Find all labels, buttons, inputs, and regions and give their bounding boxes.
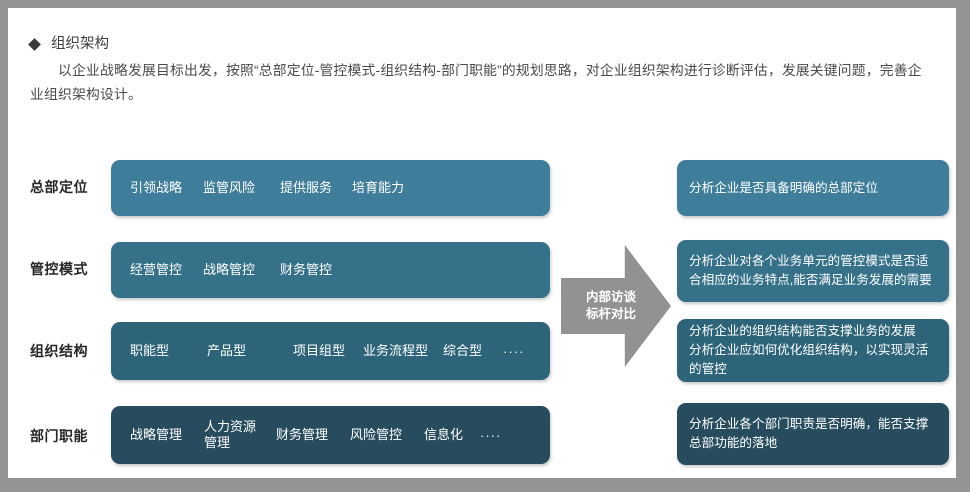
section-description: 以企业战略发展目标出发，按照“总部定位-管控模式-组织结构-部门职能”的规划思路… xyxy=(30,59,930,107)
chip-item: 战略管理 xyxy=(130,427,204,443)
chip-item: 经营管控 xyxy=(130,262,203,278)
chip-item: 综合型 xyxy=(443,343,503,359)
chip-ellipsis: ···· xyxy=(480,428,501,443)
arrow-line-2: 标杆对比 xyxy=(586,306,636,323)
row-label-dept-function: 部门职能 xyxy=(30,426,106,446)
chip-item: 战略管控 xyxy=(203,262,280,278)
section-heading: 组织架构 xyxy=(30,34,935,54)
row-label-control-mode: 管控模式 xyxy=(30,259,106,279)
chip-item: 财务管控 xyxy=(280,262,332,278)
row-label-hq-positioning: 总部定位 xyxy=(30,177,106,197)
analysis-box-hq-positioning[interactable]: 分析企业是否具备明确的总部定位 xyxy=(677,160,949,216)
process-arrow-label: 内部访谈 标杆对比 xyxy=(561,245,671,367)
chip-ellipsis: ···· xyxy=(503,344,524,359)
chip-item: 培育能力 xyxy=(352,180,404,196)
chip-item: 业务流程型 xyxy=(363,343,443,359)
chip-item: 产品型 xyxy=(207,343,293,359)
chip-item: 人力资源 管理 xyxy=(204,419,276,451)
chip-item: 提供服务 xyxy=(280,180,352,196)
analysis-text: 分析企业是否具备明确的总部定位 xyxy=(689,179,878,198)
category-bar-dept-function[interactable]: 战略管理 人力资源 管理 财务管理 风险管控 信息化 ···· xyxy=(111,406,550,464)
analysis-text: 分析企业对各个业务单元的管控模式是否适合相应的业务特点,能否满足业务发展的需要 xyxy=(689,252,937,290)
chip-item: 信息化 xyxy=(424,427,480,443)
section-title: 组织架构 xyxy=(51,34,109,54)
header-block: 组织架构 以企业战略发展目标出发，按照“总部定位-管控模式-组织结构-部门职能”… xyxy=(30,34,935,107)
chip-item: 财务管理 xyxy=(276,427,350,443)
slide-canvas: 组织架构 以企业战略发展目标出发，按照“总部定位-管控模式-组织结构-部门职能”… xyxy=(8,8,956,478)
row-label-org-structure: 组织结构 xyxy=(30,341,106,361)
chip-item: 职能型 xyxy=(130,343,207,359)
chip-item: 风险管控 xyxy=(350,427,424,443)
analysis-box-dept-function[interactable]: 分析企业各个部门职责是否明确，能否支撑总部功能的落地 xyxy=(677,403,949,465)
chip-item: 项目组型 xyxy=(293,343,363,359)
analysis-box-org-structure[interactable]: 分析企业的组织结构能否支撑业务的发展 分析企业应如何优化组织结构，以实现灵活的管… xyxy=(677,319,949,382)
category-bar-hq-positioning[interactable]: 引领战略 监管风险 提供服务 培育能力 xyxy=(111,160,550,216)
category-bar-org-structure[interactable]: 职能型 产品型 项目组型 业务流程型 综合型 ···· xyxy=(111,322,550,380)
arrow-line-1: 内部访谈 xyxy=(586,289,636,306)
analysis-text: 分析企业的组织结构能否支撑业务的发展 分析企业应如何优化组织结构，以实现灵活的管… xyxy=(689,322,937,379)
category-bar-control-mode[interactable]: 经营管控 战略管控 财务管控 xyxy=(111,242,550,298)
diamond-bullet-icon xyxy=(28,38,41,51)
chip-item: 引领战略 xyxy=(130,180,203,196)
chip-item: 监管风险 xyxy=(203,180,280,196)
analysis-box-control-mode[interactable]: 分析企业对各个业务单元的管控模式是否适合相应的业务特点,能否满足业务发展的需要 xyxy=(677,240,949,302)
analysis-text: 分析企业各个部门职责是否明确，能否支撑总部功能的落地 xyxy=(689,415,937,453)
